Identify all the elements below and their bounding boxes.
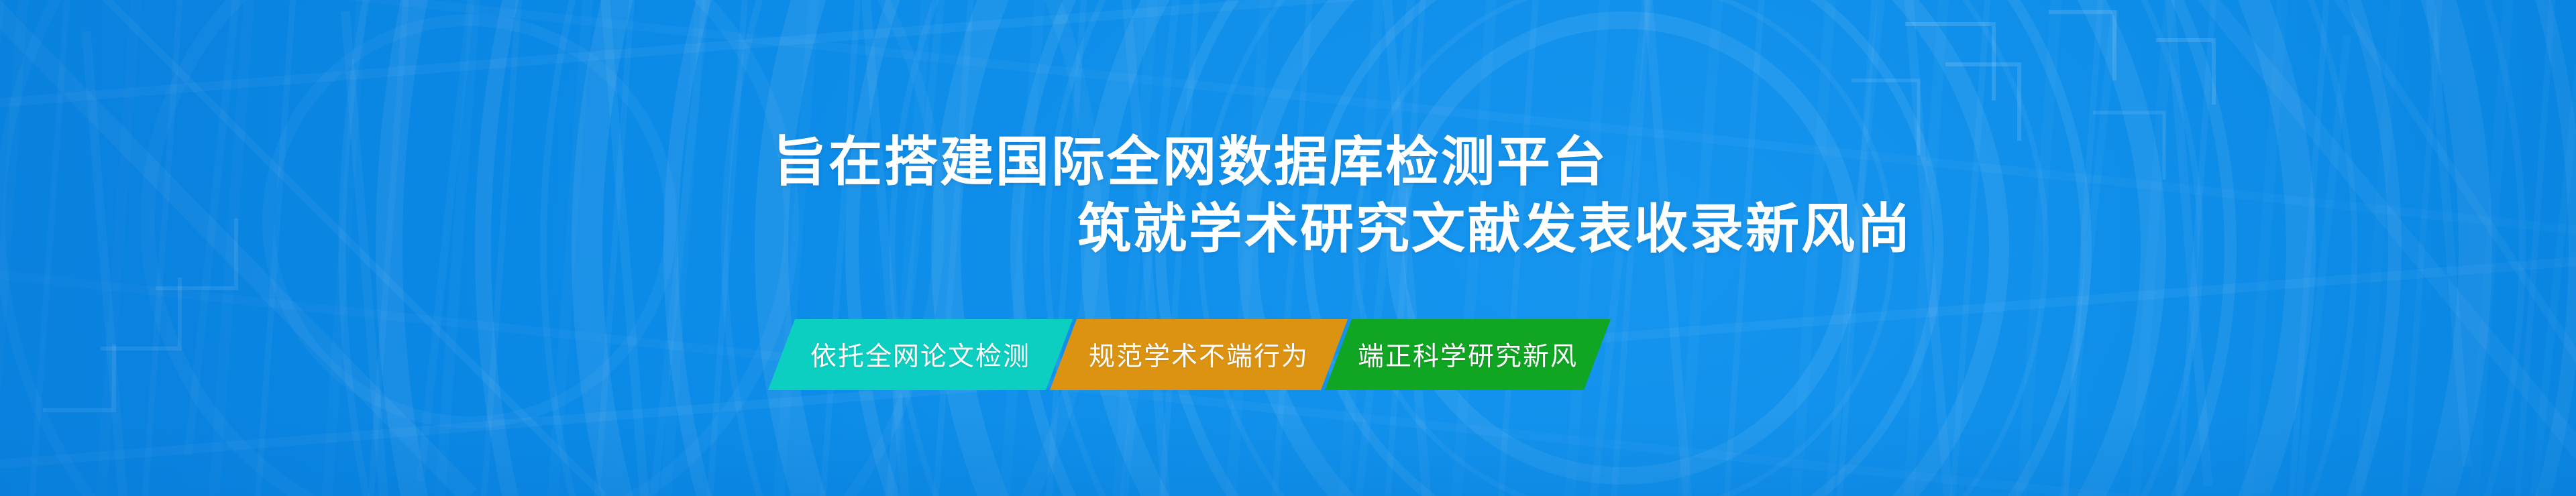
feature-tag-academic-misconduct[interactable]: 规范学术不端行为 <box>1050 319 1348 390</box>
headline-line-2: 筑就学术研究文献发表收录新风尚 <box>1077 202 1913 256</box>
feature-tag-label: 端正科学研究新风 <box>1322 336 1614 373</box>
headline-line-1: 旨在搭建国际全网数据库检测平台 <box>773 135 1608 189</box>
feature-tag-row: 依托全网论文检测 规范学术不端行为 端正科学研究新风 <box>782 319 1597 390</box>
feature-tag-paper-detection[interactable]: 依托全网论文检测 <box>768 319 1073 390</box>
promo-banner: 旨在搭建国际全网数据库检测平台 筑就学术研究文献发表收录新风尚 依托全网论文检测… <box>0 0 2576 496</box>
feature-tag-label: 规范学术不端行为 <box>1053 336 1345 373</box>
feature-tag-label: 依托全网论文检测 <box>774 336 1067 373</box>
feature-tag-research-ethos[interactable]: 端正科学研究新风 <box>1325 319 1611 390</box>
banner-content: 旨在搭建国际全网数据库检测平台 筑就学术研究文献发表收录新风尚 依托全网论文检测… <box>0 0 2576 496</box>
